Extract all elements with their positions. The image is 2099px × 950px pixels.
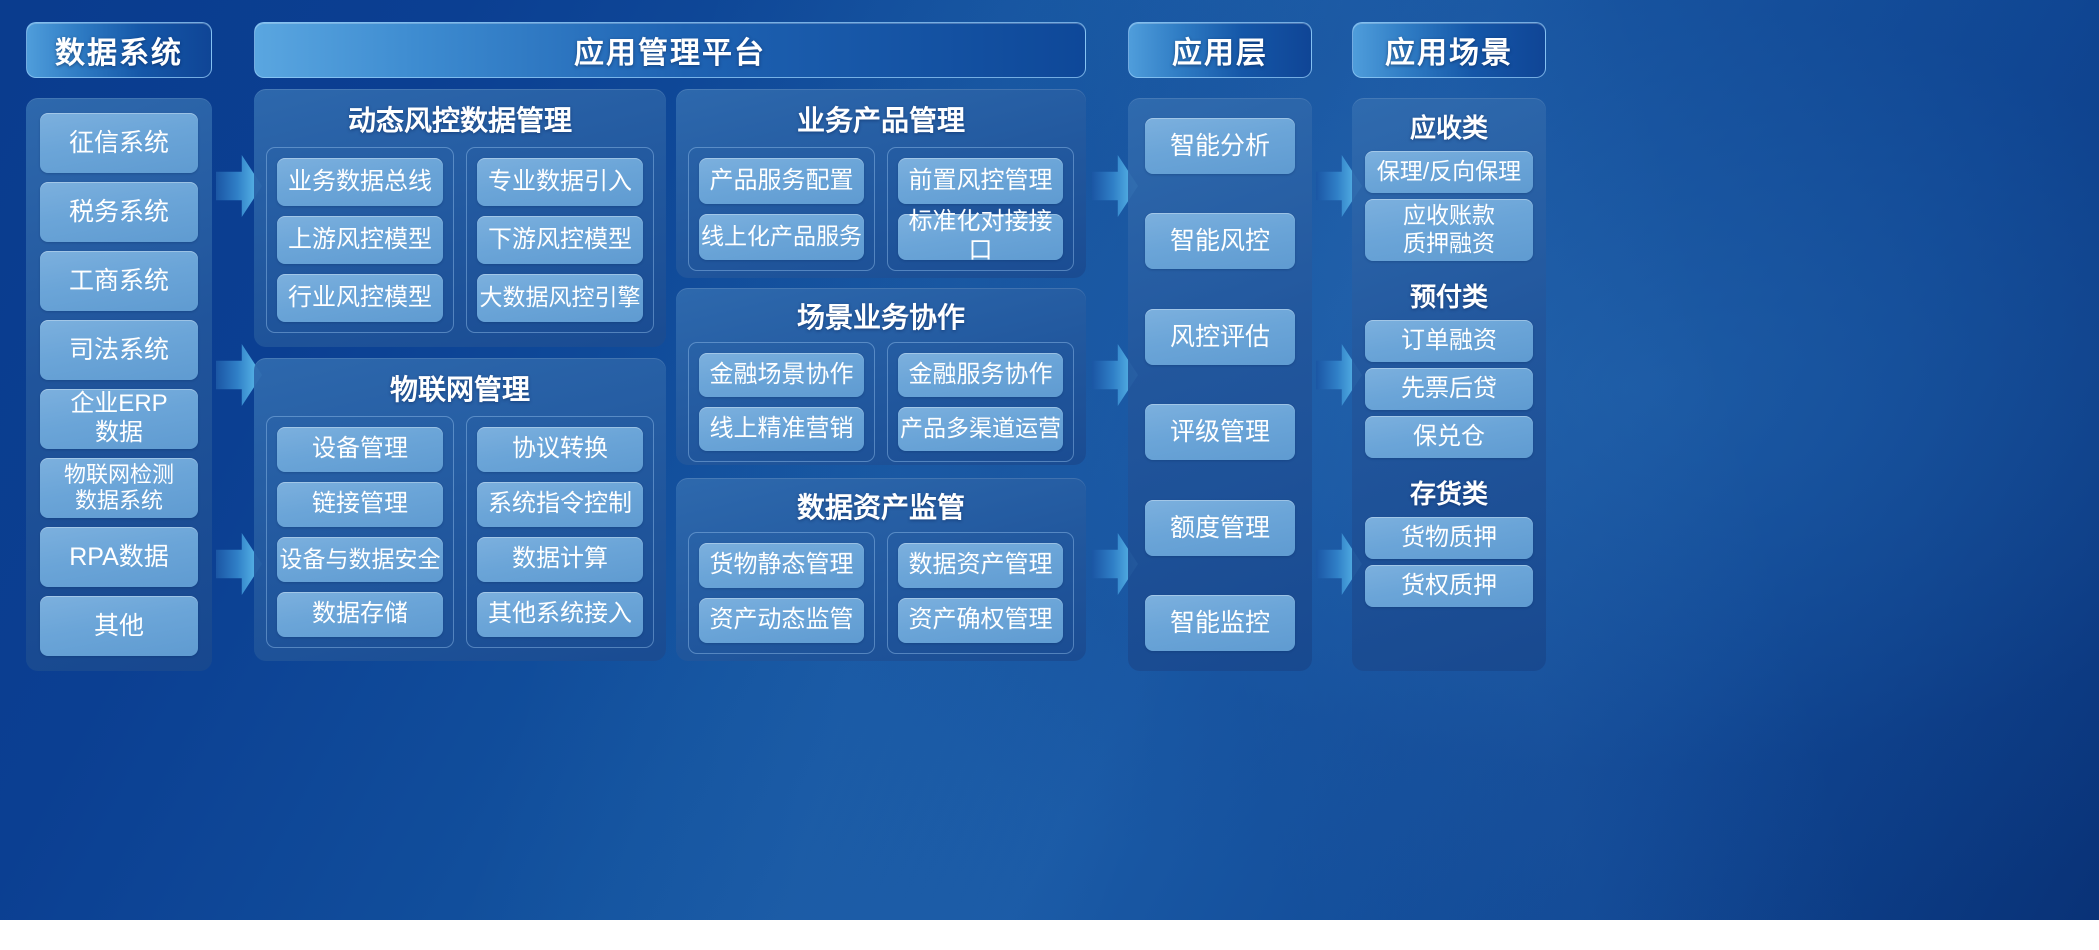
- list-item[interactable]: 资产动态监管: [699, 598, 864, 643]
- panel-iot-management: 物联网管理 设备管理 链接管理 设备与数据安全 数据存储 协议转换 系统指令控制…: [254, 358, 666, 661]
- panel-title: 数据资产监管: [688, 486, 1074, 526]
- group-box: 数据资产管理 资产确权管理: [887, 532, 1074, 654]
- list-item[interactable]: 货物静态管理: [699, 543, 864, 588]
- group-box: 业务数据总线 上游风控模型 行业风控模型: [266, 147, 454, 333]
- column-application-layer: 应用层 智能分析 智能风控 风控评估 评级管理 额度管理 智能监控: [1128, 22, 1312, 671]
- column-header-platform: 应用管理平台: [254, 22, 1086, 78]
- list-item[interactable]: 资产确权管理: [898, 598, 1063, 643]
- column-header-label: 数据系统: [55, 28, 183, 72]
- list-item[interactable]: 线上精准营销: [699, 407, 864, 451]
- panel-title: 物联网管理: [266, 368, 654, 408]
- column-application-scenarios: 应用场景 应收类 保理/反向保理 应收账款 质押融资 预付类 订单融资 先票后贷…: [1352, 22, 1546, 671]
- list-item-scenario[interactable]: 订单融资: [1365, 320, 1533, 362]
- list-item[interactable]: 前置风控管理: [898, 158, 1063, 204]
- list-item[interactable]: 业务数据总线: [277, 158, 443, 206]
- column-header-label: 应用层: [1172, 28, 1268, 72]
- list-item-scenario[interactable]: 保兑仓: [1365, 416, 1533, 458]
- list-item[interactable]: 金融服务协作: [898, 353, 1063, 397]
- panel-data-asset-supervision: 数据资产监管 货物静态管理 资产动态监管 数据资产管理 资产确权管理: [676, 478, 1086, 661]
- list-item-data-system-2[interactable]: 工商系统: [40, 251, 198, 311]
- column-platform: 应用管理平台: [254, 22, 1086, 78]
- list-item-scenario[interactable]: 货物质押: [1365, 517, 1533, 559]
- group-box: 设备管理 链接管理 设备与数据安全 数据存储: [266, 416, 454, 648]
- list-item[interactable]: 产品服务配置: [699, 158, 864, 204]
- list-item-data-system-0[interactable]: 征信系统: [40, 113, 198, 173]
- list-item-data-system-3[interactable]: 司法系统: [40, 320, 198, 380]
- list-item-data-system-4[interactable]: 企业ERP 数据: [40, 389, 198, 449]
- list-item[interactable]: 标准化对接接口: [898, 214, 1063, 260]
- list-item-scenario[interactable]: 保理/反向保理: [1365, 151, 1533, 193]
- data-systems-body: 征信系统 税务系统 工商系统 司法系统 企业ERP 数据 物联网检测 数据系统 …: [26, 98, 212, 671]
- list-item-app-layer-0[interactable]: 智能分析: [1145, 118, 1295, 174]
- list-item[interactable]: 数据存储: [277, 592, 443, 637]
- list-item[interactable]: 系统指令控制: [477, 482, 643, 527]
- list-item[interactable]: 数据资产管理: [898, 543, 1063, 588]
- list-item-scenario[interactable]: 先票后贷: [1365, 368, 1533, 410]
- group-box: 产品服务配置 线上化产品服务: [688, 147, 875, 271]
- list-item-data-system-7[interactable]: 其他: [40, 596, 198, 656]
- panel-title: 动态风控数据管理: [266, 99, 654, 139]
- list-item[interactable]: 金融场景协作: [699, 353, 864, 397]
- list-item[interactable]: 设备与数据安全: [277, 537, 443, 582]
- column-data-systems: 数据系统 征信系统 税务系统 工商系统 司法系统 企业ERP 数据 物联网检测 …: [26, 22, 212, 671]
- scenario-group-title-prepaid: 预付类: [1365, 277, 1533, 314]
- column-header-label: 应用管理平台: [574, 28, 766, 72]
- group-box: 货物静态管理 资产动态监管: [688, 532, 875, 654]
- list-item-app-layer-4[interactable]: 额度管理: [1145, 500, 1295, 556]
- column-header-data-systems: 数据系统: [26, 22, 212, 78]
- panel-title: 场景业务协作: [688, 296, 1074, 336]
- architecture-diagram: 数据系统 征信系统 税务系统 工商系统 司法系统 企业ERP 数据 物联网检测 …: [0, 0, 2099, 920]
- list-item[interactable]: 下游风控模型: [477, 216, 643, 264]
- list-item[interactable]: 设备管理: [277, 427, 443, 472]
- list-item[interactable]: 大数据风控引擎: [477, 274, 643, 322]
- group-box: 专业数据引入 下游风控模型 大数据风控引擎: [466, 147, 654, 333]
- list-item[interactable]: 其他系统接入: [477, 592, 643, 637]
- column-header-application-scenarios: 应用场景: [1352, 22, 1546, 78]
- list-item-scenario[interactable]: 应收账款 质押融资: [1365, 199, 1533, 261]
- list-item[interactable]: 专业数据引入: [477, 158, 643, 206]
- application-layer-body: 智能分析 智能风控 风控评估 评级管理 额度管理 智能监控: [1128, 98, 1312, 671]
- list-item-data-system-6[interactable]: RPA数据: [40, 527, 198, 587]
- panel-title: 业务产品管理: [688, 99, 1074, 139]
- list-item[interactable]: 数据计算: [477, 537, 643, 582]
- list-item-app-layer-1[interactable]: 智能风控: [1145, 213, 1295, 269]
- group-box: 前置风控管理 标准化对接接口: [887, 147, 1074, 271]
- panel-business-product: 业务产品管理 产品服务配置 线上化产品服务 前置风控管理 标准化对接接口: [676, 89, 1086, 278]
- list-item[interactable]: 行业风控模型: [277, 274, 443, 322]
- list-item[interactable]: 上游风控模型: [277, 216, 443, 264]
- list-item[interactable]: 协议转换: [477, 427, 643, 472]
- list-item-app-layer-3[interactable]: 评级管理: [1145, 404, 1295, 460]
- group-box: 协议转换 系统指令控制 数据计算 其他系统接入: [466, 416, 654, 648]
- column-header-label: 应用场景: [1385, 28, 1513, 72]
- list-item-app-layer-2[interactable]: 风控评估: [1145, 309, 1295, 365]
- scenario-group-title-inventory: 存货类: [1365, 474, 1533, 511]
- list-item[interactable]: 链接管理: [277, 482, 443, 527]
- column-header-application-layer: 应用层: [1128, 22, 1312, 78]
- application-scenarios-body: 应收类 保理/反向保理 应收账款 质押融资 预付类 订单融资 先票后贷 保兑仓 …: [1352, 98, 1546, 671]
- group-box: 金融服务协作 产品多渠道运营: [887, 342, 1074, 462]
- list-item-data-system-1[interactable]: 税务系统: [40, 182, 198, 242]
- list-item[interactable]: 产品多渠道运营: [898, 407, 1063, 451]
- panel-scenario-collaboration: 场景业务协作 金融场景协作 线上精准营销 金融服务协作 产品多渠道运营: [676, 288, 1086, 465]
- list-item-scenario[interactable]: 货权质押: [1365, 565, 1533, 607]
- list-item-data-system-5[interactable]: 物联网检测 数据系统: [40, 458, 198, 518]
- scenario-group-title-receivable: 应收类: [1365, 108, 1533, 145]
- panel-dynamic-risk-data: 动态风控数据管理 业务数据总线 上游风控模型 行业风控模型 专业数据引入 下游风…: [254, 89, 666, 347]
- list-item[interactable]: 线上化产品服务: [699, 214, 864, 260]
- group-box: 金融场景协作 线上精准营销: [688, 342, 875, 462]
- list-item-app-layer-5[interactable]: 智能监控: [1145, 595, 1295, 651]
